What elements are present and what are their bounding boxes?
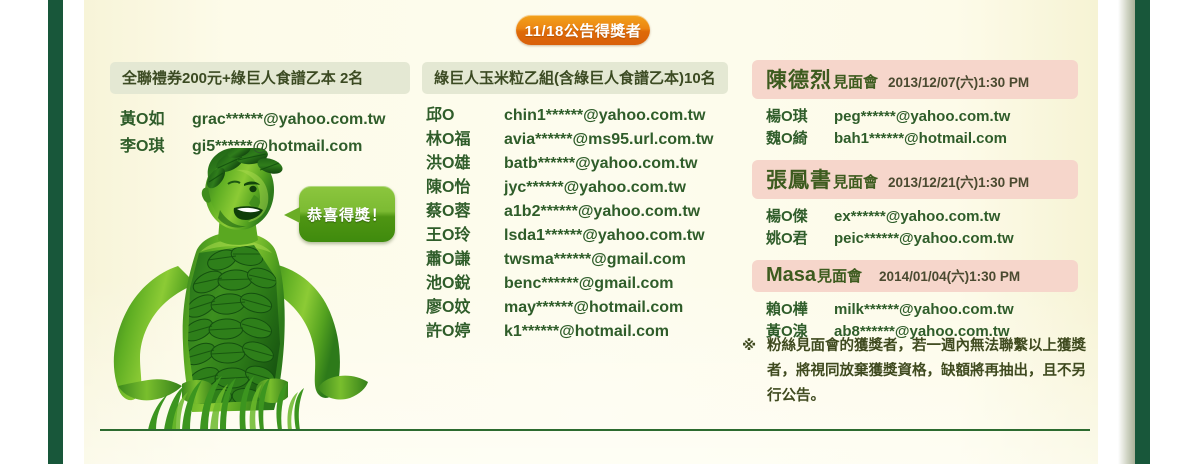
prize-1-title: 全聯禮券200元+綠巨人食譜乙本 2名	[110, 62, 410, 94]
winner-email: k1******@hotmail.com	[504, 320, 669, 344]
meetup-star-name: 張鳳書	[766, 164, 832, 194]
winner-email: peg******@yahoo.com.tw	[834, 106, 1010, 128]
winner-name: 楊O琪	[766, 106, 834, 128]
list-item: 蔡O蓉 a1b2******@yahoo.com.tw	[426, 200, 728, 224]
meetup-star-name: Masa	[766, 264, 816, 287]
list-item: 陳O怡 jyc******@yahoo.com.tw	[426, 176, 728, 200]
list-item: 黃O如 grac******@yahoo.com.tw	[120, 106, 410, 133]
winner-name: 楊O傑	[766, 206, 834, 228]
note-text: 粉絲見面會的獲獎者，若一週內無法聯繫以上獲獎者，將視同放棄獲獎資格，缺額將再抽出…	[767, 334, 1092, 409]
announcement-badge-label: 11/18公告得獎者	[525, 20, 642, 41]
bottom-divider	[100, 429, 1090, 431]
winner-name: 許O婷	[426, 320, 504, 344]
list-item: 邱O chin1******@yahoo.com.tw	[426, 104, 728, 128]
winner-name: 李O琪	[120, 133, 192, 160]
winner-name: 邱O	[426, 104, 504, 128]
winner-name: 蕭O謙	[426, 248, 504, 272]
meetup-date: 2013/12/07(六)1:30 PM	[888, 71, 1029, 91]
winner-email: may******@hotmail.com	[504, 296, 683, 320]
meetup-3-header: Masa 見面會 2014/01/04(六)1:30 PM	[752, 260, 1078, 292]
list-item: 蕭O謙 twsma******@gmail.com	[426, 248, 728, 272]
prize-2-winner-list: 邱O chin1******@yahoo.com.tw 林O福 avia****…	[426, 104, 728, 344]
meetup-kind-label: 見面會	[817, 265, 862, 286]
winner-email: lsda1******@yahoo.com.tw	[504, 224, 705, 248]
list-item: 廖O妏 may******@hotmail.com	[426, 296, 728, 320]
winner-email: batb******@yahoo.com.tw	[504, 152, 697, 176]
announcement-badge: 11/18公告得獎者	[516, 15, 650, 45]
winner-email: bah1******@hotmail.com	[834, 128, 1007, 150]
meetup-star-name: 陳德烈	[766, 64, 832, 94]
list-item: 洪O雄 batb******@yahoo.com.tw	[426, 152, 728, 176]
meetup-date: 2014/01/04(六)1:30 PM	[879, 265, 1020, 285]
winner-email: peic******@yahoo.com.tw	[834, 228, 1014, 250]
list-item: 楊O傑 ex******@yahoo.com.tw	[766, 206, 1078, 228]
winner-email: milk******@yahoo.com.tw	[834, 299, 1014, 321]
winner-name: 王O玲	[426, 224, 504, 248]
meetup-column: 陳德烈 見面會 2013/12/07(六)1:30 PM 楊O琪 peg****…	[752, 60, 1078, 353]
list-item: 池O銳 benc******@gmail.com	[426, 272, 728, 296]
meetup-kind-label: 見面會	[833, 71, 878, 92]
list-item: 許O婷 k1******@hotmail.com	[426, 320, 728, 344]
winner-email: ex******@yahoo.com.tw	[834, 206, 1000, 228]
winner-name: 蔡O蓉	[426, 200, 504, 224]
right-frame-bar	[1135, 0, 1150, 464]
list-item: 賴O樺 milk******@yahoo.com.tw	[766, 299, 1078, 321]
congrats-speech-bubble: 恭喜得獎！	[299, 186, 395, 242]
disclaimer-note: ※ 粉絲見面會的獲獎者，若一週內無法聯繫以上獲獎者，將視同放棄獲獎資格，缺額將再…	[742, 334, 1092, 409]
winner-email: chin1******@yahoo.com.tw	[504, 104, 705, 128]
right-frame-shadow	[1118, 0, 1135, 464]
winner-name: 洪O雄	[426, 152, 504, 176]
winner-name: 林O福	[426, 128, 504, 152]
winner-name: 廖O妏	[426, 296, 504, 320]
winner-email: jyc******@yahoo.com.tw	[504, 176, 686, 200]
winner-email: grac******@yahoo.com.tw	[192, 106, 385, 133]
congrats-bubble-label: 恭喜得獎！	[307, 204, 387, 225]
list-item: 林O福 avia******@ms95.url.com.tw	[426, 128, 728, 152]
list-item: 李O琪 gi5******@hotmail.com	[120, 133, 410, 160]
left-frame-bar	[48, 0, 63, 464]
meetup-date: 2013/12/21(六)1:30 PM	[888, 171, 1029, 191]
winner-name: 陳O怡	[426, 176, 504, 200]
meetup-block-3: Masa 見面會 2014/01/04(六)1:30 PM 賴O樺 milk**…	[752, 260, 1078, 343]
meetup-block-1: 陳德烈 見面會 2013/12/07(六)1:30 PM 楊O琪 peg****…	[752, 60, 1078, 150]
list-item: 姚O君 peic******@yahoo.com.tw	[766, 228, 1078, 250]
list-item: 王O玲 lsda1******@yahoo.com.tw	[426, 224, 728, 248]
meetup-2-winner-list: 楊O傑 ex******@yahoo.com.tw 姚O君 peic******…	[766, 206, 1078, 250]
list-item: 楊O琪 peg******@yahoo.com.tw	[766, 106, 1078, 128]
winner-name: 池O銳	[426, 272, 504, 296]
list-item: 魏O綺 bah1******@hotmail.com	[766, 128, 1078, 150]
meetup-1-winner-list: 楊O琪 peg******@yahoo.com.tw 魏O綺 bah1*****…	[766, 106, 1078, 150]
winner-name: 魏O綺	[766, 128, 834, 150]
winner-email: gi5******@hotmail.com	[192, 133, 362, 160]
winner-email: twsma******@gmail.com	[504, 248, 686, 272]
prize-column-2: 綠巨人玉米粒乙組(含綠巨人食譜乙本)10名 邱O chin1******@yah…	[422, 62, 728, 344]
meetup-block-2: 張鳳書 見面會 2013/12/21(六)1:30 PM 楊O傑 ex*****…	[752, 160, 1078, 250]
meetup-2-header: 張鳳書 見面會 2013/12/21(六)1:30 PM	[752, 160, 1078, 199]
winner-email: a1b2******@yahoo.com.tw	[504, 200, 700, 224]
winner-name: 黃O如	[120, 106, 192, 133]
page-root: 11/18公告得獎者 全聯禮券200元+綠巨人食譜乙本 2名 黃O如 grac*…	[0, 0, 1198, 464]
note-mark-icon: ※	[742, 334, 756, 359]
winner-name: 姚O君	[766, 228, 834, 250]
winner-name: 賴O樺	[766, 299, 834, 321]
meetup-1-header: 陳德烈 見面會 2013/12/07(六)1:30 PM	[752, 60, 1078, 99]
prize-2-title: 綠巨人玉米粒乙組(含綠巨人食譜乙本)10名	[422, 62, 728, 94]
winner-email: avia******@ms95.url.com.tw	[504, 128, 713, 152]
winner-email: benc******@gmail.com	[504, 272, 673, 296]
prize-column-1: 全聯禮券200元+綠巨人食譜乙本 2名 黃O如 grac******@yahoo…	[110, 62, 410, 160]
prize-1-winner-list: 黃O如 grac******@yahoo.com.tw 李O琪 gi5*****…	[120, 106, 410, 160]
meetup-kind-label: 見面會	[833, 171, 878, 192]
